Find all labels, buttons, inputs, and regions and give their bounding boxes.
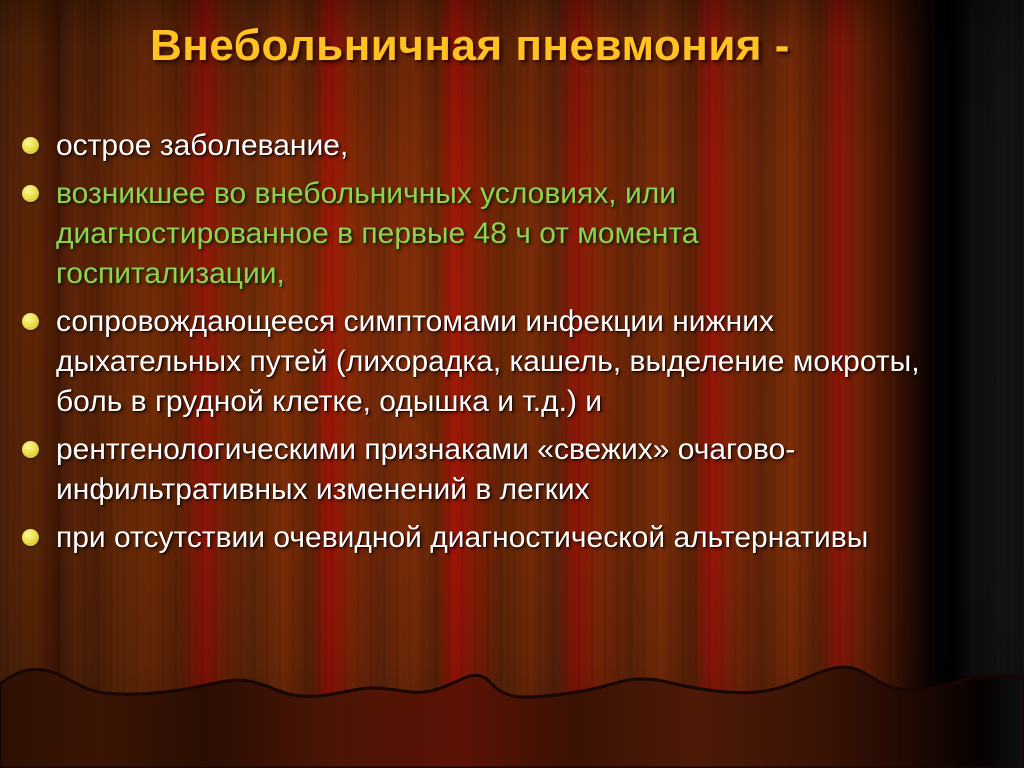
bullet-dot-icon <box>22 529 39 546</box>
list-item: сопровождающееся симптомами инфекции ниж… <box>22 302 922 422</box>
list-item-label: сопровождающееся симптомами инфекции ниж… <box>56 302 922 422</box>
list-item-label: при отсутствии очевидной диагностической… <box>56 518 922 558</box>
list-item: возникшее во внебольничных условиях, или… <box>22 174 922 294</box>
list-item: рентгенологическими признаками «свежих» … <box>22 430 922 510</box>
bullet-dot-icon <box>22 137 39 154</box>
list-item: при отсутствии очевидной диагностической… <box>22 518 922 558</box>
slide-title: Внебольничная пневмония - <box>0 22 940 70</box>
bullet-dot-icon <box>22 313 39 330</box>
presentation-slide: Внебольничная пневмония - острое заболев… <box>0 0 1024 768</box>
bullet-dot-icon <box>22 185 39 202</box>
list-item: острое заболевание, <box>22 126 922 166</box>
bullet-dot-icon <box>22 441 39 458</box>
bottom-wave-decoration <box>0 648 1024 768</box>
bullet-list: острое заболевание, возникшее во внеболь… <box>22 126 922 566</box>
list-item-label: острое заболевание, <box>56 126 922 166</box>
list-item-label: рентгенологическими признаками «свежих» … <box>56 430 922 510</box>
list-item-label: возникшее во внебольничных условиях, или… <box>56 174 922 294</box>
